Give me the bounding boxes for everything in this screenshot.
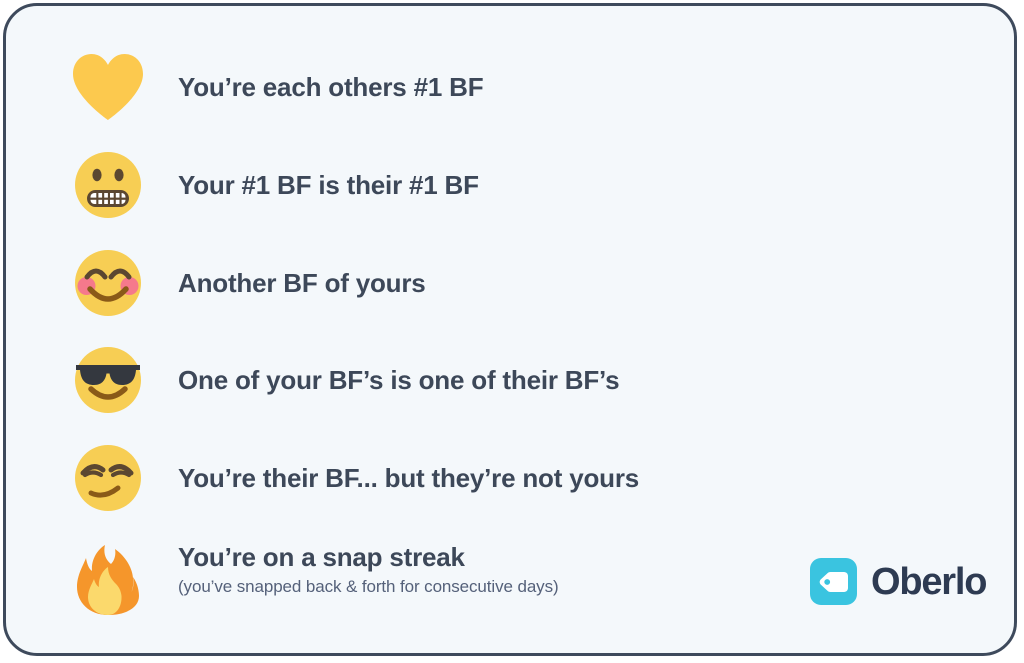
list-item: Your #1 BF is their #1 BF xyxy=(68,145,479,225)
smiling-face-with-sunglasses-emoji xyxy=(68,340,148,420)
list-item-title: You’re each others #1 BF xyxy=(178,72,483,103)
list-item: You’re on a snap streak (you’ve snapped … xyxy=(68,534,559,620)
list-item-title: One of your BF’s is one of their BF’s xyxy=(178,365,619,396)
oberlo-wordmark: Oberlo xyxy=(871,563,986,601)
oberlo-logo: Oberlo xyxy=(810,558,986,605)
fire-emoji xyxy=(68,540,148,620)
smirking-face-emoji xyxy=(68,438,148,518)
yellow-heart-emoji xyxy=(68,47,148,127)
smiling-face-with-smiling-eyes-emoji xyxy=(68,243,148,323)
info-card: You’re each others #1 BF xyxy=(3,3,1017,656)
list-item: Another BF of yours xyxy=(68,243,426,323)
list-item: You’re their BF... but they’re not yours xyxy=(68,438,639,518)
list-item-text: You’re on a snap streak (you’ve snapped … xyxy=(178,542,559,598)
list-item-title: Your #1 BF is their #1 BF xyxy=(178,170,479,201)
list-item: One of your BF’s is one of their BF’s xyxy=(68,340,619,420)
list-item-subtitle: (you’ve snapped back & forth for consecu… xyxy=(178,576,559,598)
list-item-text: You’re their BF... but they’re not yours xyxy=(178,463,639,494)
list-item-title: You’re on a snap streak xyxy=(178,542,559,573)
grimacing-face-emoji xyxy=(68,145,148,225)
price-tag-icon xyxy=(810,558,857,605)
list-item-text: You’re each others #1 BF xyxy=(178,72,483,103)
feature-list: You’re each others #1 BF xyxy=(6,6,1014,653)
list-item-title: You’re their BF... but they’re not yours xyxy=(178,463,639,494)
list-item-title: Another BF of yours xyxy=(178,268,426,299)
list-item-text: Another BF of yours xyxy=(178,268,426,299)
list-item: You’re each others #1 BF xyxy=(68,47,483,127)
list-item-text: Your #1 BF is their #1 BF xyxy=(178,170,479,201)
list-item-text: One of your BF’s is one of their BF’s xyxy=(178,365,619,396)
